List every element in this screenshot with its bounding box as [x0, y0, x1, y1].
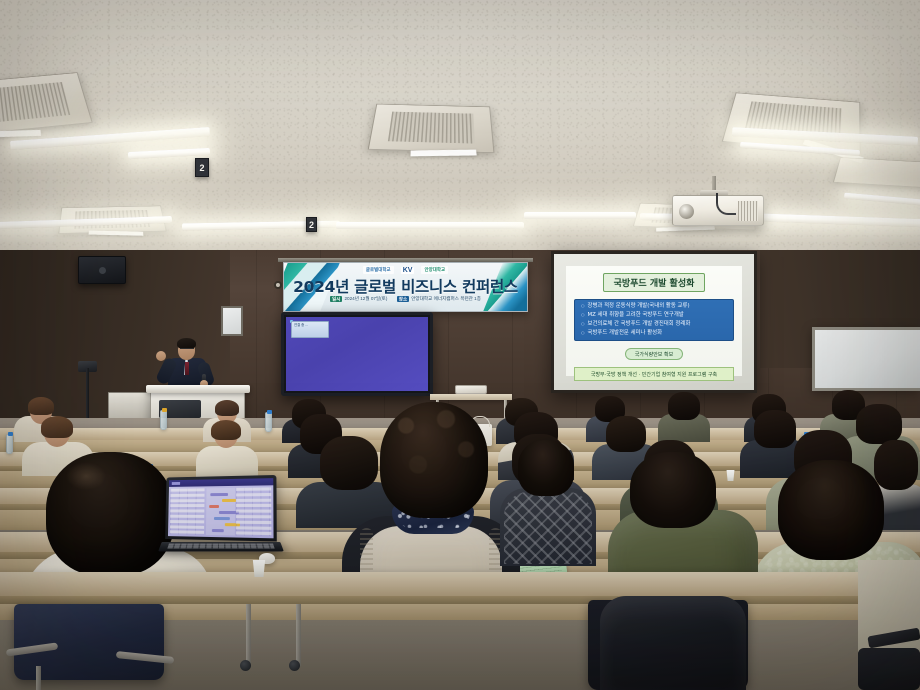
person-hair: [215, 400, 239, 416]
banner-date-value: 2024년 12월 07일(토): [344, 296, 387, 301]
presentation-slide: 국방푸드 개발 활성화 장병과 적정 운동식량 개발(국내외 활동 교류) MZ…: [566, 266, 742, 376]
gantt-bar: [222, 499, 236, 502]
person-hair: [518, 440, 574, 496]
banner-date-tag: 일시: [330, 296, 342, 302]
water-bottle: [160, 410, 167, 430]
banner-logo-kv: KV: [401, 267, 415, 274]
desk-leg: [296, 604, 301, 666]
person-hair: [630, 452, 716, 528]
banner-place-segment: 장소안양대학교 에너지캠퍼스 목련관 1층: [397, 296, 481, 301]
laptop-left-columns: [170, 488, 205, 535]
water-bottle: [265, 412, 272, 432]
gantt-bar: [212, 529, 224, 532]
banner-logo-right: 안양대학교: [421, 266, 448, 274]
banner-logo-left: 글로벌대학교: [363, 266, 394, 274]
audience-laptop-lid: [165, 475, 277, 542]
ceiling-light-tube: [336, 222, 524, 229]
gantt-bar: [214, 517, 230, 520]
projector-cable: [716, 193, 736, 215]
projector-vent: [738, 201, 758, 221]
person-hair-sheen: [66, 462, 106, 490]
ac-grille: [387, 111, 475, 144]
person-black-padded-coat: [600, 596, 746, 690]
lecture-hall-photo: 2 2 글로벌대학교 KV 안양대학교 2024년 글로벌 비즈니스 컨퍼런스 …: [0, 0, 920, 690]
slide-footer: 국방부·국방 정책 개선 · 민간기업 참여형 지원 프로그램 구축: [574, 367, 734, 381]
slide-bullet: 장병과 적정 운동식량 개발(국내외 활동 교류): [581, 304, 727, 309]
small-wall-board: [221, 306, 243, 336]
desk-caster: [289, 660, 300, 671]
water-bottle: [6, 434, 13, 454]
wall-speaker-icon: [78, 256, 126, 284]
chair-post: [36, 666, 41, 690]
audience-person-patterned-sweater: [500, 440, 596, 560]
banner-title: 2024년 글로벌 비즈니스 컨퍼런스: [284, 275, 527, 297]
person-hair: [778, 460, 884, 560]
desk-edge: [0, 596, 920, 604]
presenter-tie: [185, 362, 189, 375]
laptop-screen: [168, 478, 274, 538]
slide-bullet-list: 장병과 적정 운동식량 개발(국내외 활동 교류) MZ 세대 취향을 고려한 …: [574, 299, 734, 341]
person-hair: [41, 416, 73, 438]
person-dark-bag: [858, 648, 920, 690]
banner-place-tag: 장소: [397, 296, 409, 302]
audience-person-right-edge: [858, 560, 920, 690]
desk-row-front: [0, 572, 920, 596]
front-display-screen: 연결 중 ...: [286, 317, 428, 391]
slide-bullet: MZ 세대 취향을 고려한 국방푸드 연구개발: [581, 313, 727, 318]
projector-lens-icon: [679, 204, 694, 219]
audience-person-black-coat: [600, 596, 746, 690]
slide-callout: 국가식량안보 확보: [625, 348, 683, 360]
laptop-keyboard: [167, 543, 274, 548]
bottle-cap: [267, 410, 272, 414]
podium-top-surface: [146, 385, 250, 393]
screen-dialog: 연결 중 ...: [291, 321, 329, 338]
bottle-cap: [162, 408, 167, 412]
person-hair: [668, 392, 700, 420]
side-table-device: [455, 385, 487, 394]
banner-ring: [274, 281, 282, 289]
banner-logo-row: 글로벌대학교 KV 안양대학교: [284, 266, 527, 274]
laptop-right-columns: [236, 487, 272, 536]
banner-date-segment: 일시2024년 12월 07일(토): [330, 296, 389, 301]
projection-screen: 국방푸드 개발 활성화 장병과 적정 운동식량 개발(국내외 활동 교류) MZ…: [554, 254, 754, 390]
presenter-raised-hand: [156, 351, 166, 361]
person-hair: [28, 397, 54, 415]
slide-bullet: 보건의료체 간 국방푸드 개발 경진대회 정례화: [581, 322, 727, 327]
conference-banner: 글로벌대학교 KV 안양대학교 2024년 글로벌 비즈니스 컨퍼런스 일시20…: [283, 262, 528, 312]
ac-vane: [411, 150, 477, 157]
wall-whiteboard: [812, 327, 920, 391]
desk-leg: [246, 604, 251, 666]
banner-subtitle: 일시2024년 12월 07일(토) 장소안양대학교 에너지캠퍼스 목련관 1층: [284, 296, 527, 302]
desk-caster: [240, 660, 251, 671]
person-hair: [211, 420, 241, 440]
ceiling-light-tube: [524, 212, 636, 219]
gantt-bar: [209, 505, 219, 508]
gantt-bar: [210, 493, 228, 496]
ac-cassette-unit: [368, 104, 495, 153]
audience-laptop-base: [158, 542, 284, 552]
slide-bullet: 국방푸드 개발전문 세미나 활성화: [581, 331, 727, 336]
front-display-monitor: 연결 중 ...: [281, 312, 433, 396]
projection-screen-frame: 국방푸드 개발 활성화 장병과 적정 운동식량 개발(국내외 활동 교류) MZ…: [551, 251, 757, 393]
glasses-icon: [180, 348, 194, 351]
person-hair: [46, 452, 174, 576]
bottle-cap: [8, 432, 13, 436]
sweater-pattern: [504, 492, 592, 564]
laptop-app-titlebar: [169, 478, 273, 487]
ac-grille: [0, 82, 71, 125]
ceiling-zone-sign: 2: [306, 217, 317, 232]
laptop-gantt-area: [206, 488, 235, 536]
banner-place-value: 안양대학교 에너지캠퍼스 목련관 1층: [411, 296, 481, 301]
ceiling-zone-sign: 2: [195, 158, 209, 177]
person-hair-curls: [384, 404, 484, 512]
audience-person: [658, 392, 710, 440]
slide-title: 국방푸드 개발 활성화: [603, 273, 706, 292]
